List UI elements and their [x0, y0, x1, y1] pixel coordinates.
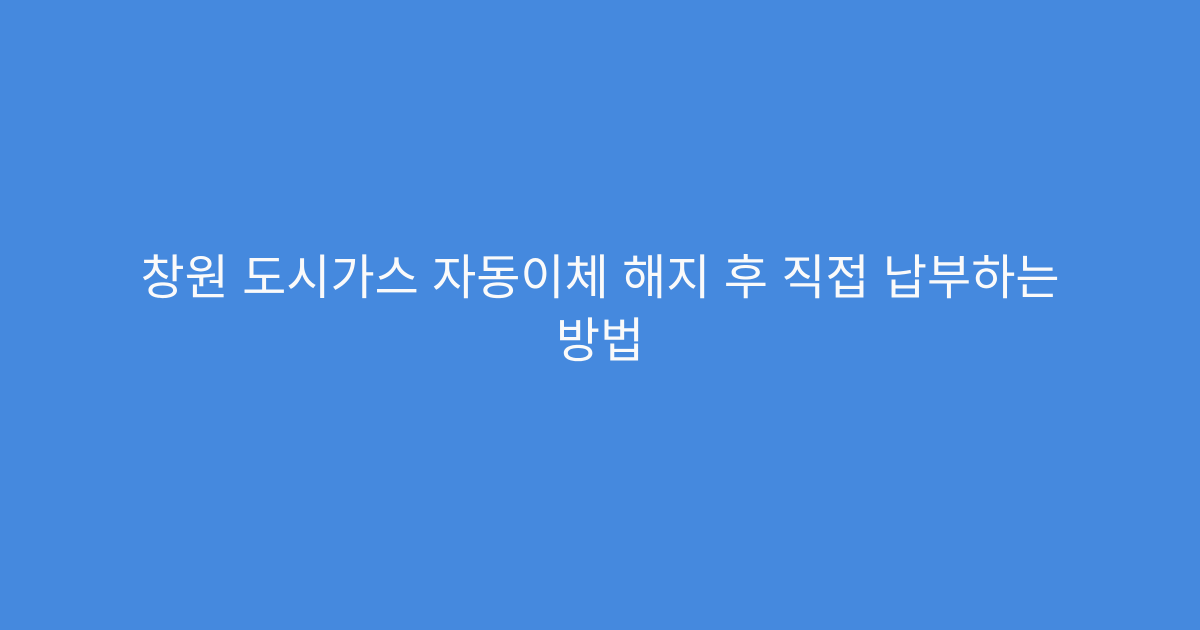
headline-block: 창원 도시가스 자동이체 해지 후 직접 납부하는 방법 — [100, 247, 1100, 373]
page-title: 창원 도시가스 자동이체 해지 후 직접 납부하는 방법 — [100, 247, 1100, 373]
title-card: 창원 도시가스 자동이체 해지 후 직접 납부하는 방법 — [0, 0, 1200, 630]
